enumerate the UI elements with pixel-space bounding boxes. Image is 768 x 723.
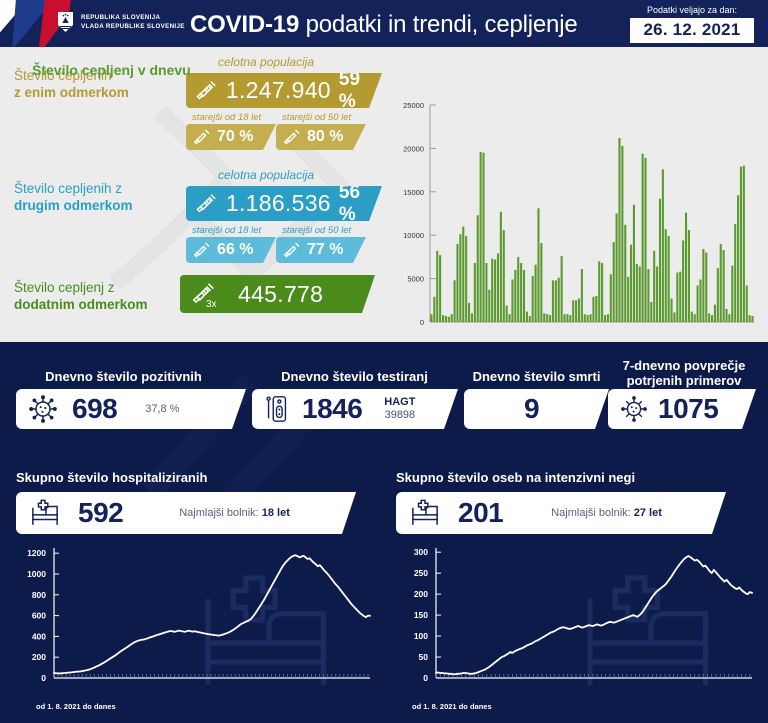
bed-watermark [208,578,324,683]
weekly-average-heading-line2: potrjenih primerov [606,373,762,388]
stat-value-daily-deaths: 9 [524,393,539,425]
stat-extra-bold-daily-tested: HAGT [384,396,415,409]
icu-heading: Skupno število oseb na intenzivni negi [396,470,716,485]
virus-icon [620,395,648,423]
hospitalized-trend-chart: 020040060080010001200 [8,540,378,700]
statistics-panel: Dnevno število pozitivnih 698 [0,342,768,723]
syringe-icon [282,128,301,147]
dose1-sub0-value: 70 % [217,128,253,146]
dose2-label: Število cepljenih z drugim odmerkom [14,180,133,214]
government-logo: REPUBLIKA SLOVENIJA VLADA REPUBLIKE SLOV… [57,11,185,33]
stat-heading-daily-positive: Dnevno število pozitivnih [16,369,231,384]
gov-line-1: REPUBLIKA SLOVENIJA [81,13,185,22]
dose2-total-bar: 1.186.536 56 % [186,186,382,221]
syringe-icon [194,192,218,216]
stat-extra-daily-positive: 37,8 % [145,403,179,415]
stat-heading-daily-deaths: Dnevno število smrti [464,369,609,384]
syringe-icon [194,79,218,103]
icu-trend-chart: 050100150200250300 [390,540,760,700]
stat-value-daily-tested: 1846 [302,393,362,425]
dose1-sub0-bar: 70 % [186,124,276,150]
data-date-label: Podatki veljajo za dan: [630,5,754,15]
dose3-total-bar: 3x 445.778 [180,275,375,313]
svg-text:20000: 20000 [403,144,424,153]
svg-text:0: 0 [41,673,46,683]
svg-text:800: 800 [32,590,46,600]
dose2-sub0-value: 66 % [217,241,253,259]
dose2-sub1-value: 77 % [307,241,343,259]
vaccination-panel: Število cepljenih z enim odmerkom celotn… [0,47,768,342]
dose2-sub0-caption: starejši od 18 let [192,225,261,236]
stat-heading-weekly-average: 7-dnevno povprečje potrjenih primerov [606,358,762,388]
stat-value-daily-positive: 698 [72,393,117,425]
hospital-value: 592 [78,497,123,529]
dose3-label: Število cepljenj z dodatnim odmerkom [14,279,148,313]
hospital-youngest-label: Najmlajši bolnik: [179,507,262,519]
svg-text:5000: 5000 [407,275,424,284]
stat-card-daily-deaths: 9 [464,389,609,429]
dose1-sub1-bar: 80 % [276,124,366,150]
dose1-label-line2: z enim odmerkom [14,84,129,101]
icu-card: 201 Najmlajši bolnik: 27 let [396,492,726,534]
svg-text:0: 0 [420,318,424,327]
daily-vaccinations-chart-title: Število cepljenj v dnevu [32,62,191,78]
svg-text:400: 400 [32,631,46,641]
svg-text:250: 250 [414,568,428,578]
svg-text:15000: 15000 [403,188,424,197]
government-name: REPUBLIKA SLOVENIJA VLADA REPUBLIKE SLOV… [81,13,185,31]
svg-text:50: 50 [419,652,429,662]
hospital-bed-icon [410,499,440,527]
gov-line-2: VLADA REPUBLIKE SLOVENIJE [81,22,185,31]
stat-heading-daily-tested: Dnevno število testiranj [252,369,457,384]
svg-text:200: 200 [414,589,428,599]
dose2-label-line1: Število cepljenih z [14,180,133,197]
dose1-sub1-caption: starejši od 50 let [282,112,351,123]
stat-card-weekly-average: 1075 [608,389,756,429]
syringe-icon [282,241,301,260]
dose3-label-line2: dodatnim odmerkom [14,296,148,313]
hospital-youngest: Najmlajši bolnik: 18 let [179,507,290,519]
hospitalized-chart-footer: od 1. 8. 2021 do danes [36,702,116,711]
daily-vaccinations-chart: 2500020000150001000050000 [390,57,762,342]
icu-youngest: Najmlajši bolnik: 27 let [551,507,662,519]
stat-card-daily-positive: 698 37,8 % [16,389,246,429]
syringe-icon [192,241,211,260]
page-title-bold: COVID-19 [190,11,299,38]
syringe-icon [192,128,211,147]
svg-text:200: 200 [32,652,46,662]
svg-text:100: 100 [414,631,428,641]
stat-card-daily-tested: 1846 HAGT 39898 [252,389,458,429]
icu-youngest-label: Najmlajši bolnik: [551,507,634,519]
coat-of-arms-icon [57,11,74,33]
hospital-card: 592 Najmlajši bolnik: 18 let [16,492,356,534]
hospital-youngest-value: 18 let [262,507,290,519]
svg-text:600: 600 [32,611,46,621]
svg-text:10000: 10000 [403,231,424,240]
dose3-label-line1: Število cepljenj z [14,279,148,296]
hospital-bed-icon [30,499,60,527]
icu-youngest-value: 27 let [634,507,662,519]
dose1-total-bar: 1.247.940 59 % [186,73,382,108]
stat-value-weekly-average: 1075 [658,393,718,425]
page-title: COVID-19 podatki in trendi, cepljenje [190,11,578,39]
page-header: REPUBLIKA SLOVENIJA VLADA REPUBLIKE SLOV… [0,0,768,47]
test-icon [264,394,290,424]
svg-text:300: 300 [414,547,428,557]
weekly-average-heading-line1: 7-dnevno povprečje [606,358,762,373]
data-date-box: Podatki veljajo za dan: 26. 12. 2021 [630,5,754,43]
stat-extra-daily-tested: 39898 [385,409,416,421]
hospital-heading: Skupno število hospitaliziranih [16,470,276,485]
svg-text:1000: 1000 [27,569,46,579]
booster-badge: 3x [206,299,217,310]
dose2-total-value: 1.186.536 [226,190,331,217]
data-date-value: 26. 12. 2021 [630,18,754,43]
dose1-total-value: 1.247.940 [226,77,331,104]
dose1-sub1-value: 80 % [307,128,343,146]
svg-text:150: 150 [414,610,428,620]
booster-syringe-wrap: 3x [190,281,216,307]
page-title-rest: podatki in trendi, cepljenje [299,11,577,38]
svg-text:1200: 1200 [27,548,46,558]
dose2-label-line2: drugim odmerkom [14,197,133,214]
dashboard-root: REPUBLIKA SLOVENIJA VLADA REPUBLIKE SLOV… [0,0,768,723]
dose2-sub1-caption: starejši od 50 let [282,225,351,236]
dose2-total-caption: celotna populacija [218,168,314,182]
virus-icon [28,394,58,424]
dose2-sub1-bar: 77 % [276,237,366,263]
icu-chart-footer: od 1. 8. 2021 do danes [412,702,492,711]
svg-text:25000: 25000 [403,101,424,110]
icu-value: 201 [458,497,503,529]
dose3-total-value: 445.778 [238,281,323,308]
svg-text:0: 0 [423,673,428,683]
bed-watermark [590,578,706,683]
dose2-sub0-bar: 66 % [186,237,276,263]
dose1-sub0-caption: starejši od 18 let [192,112,261,123]
dose1-total-caption: celotna populacija [218,55,314,69]
